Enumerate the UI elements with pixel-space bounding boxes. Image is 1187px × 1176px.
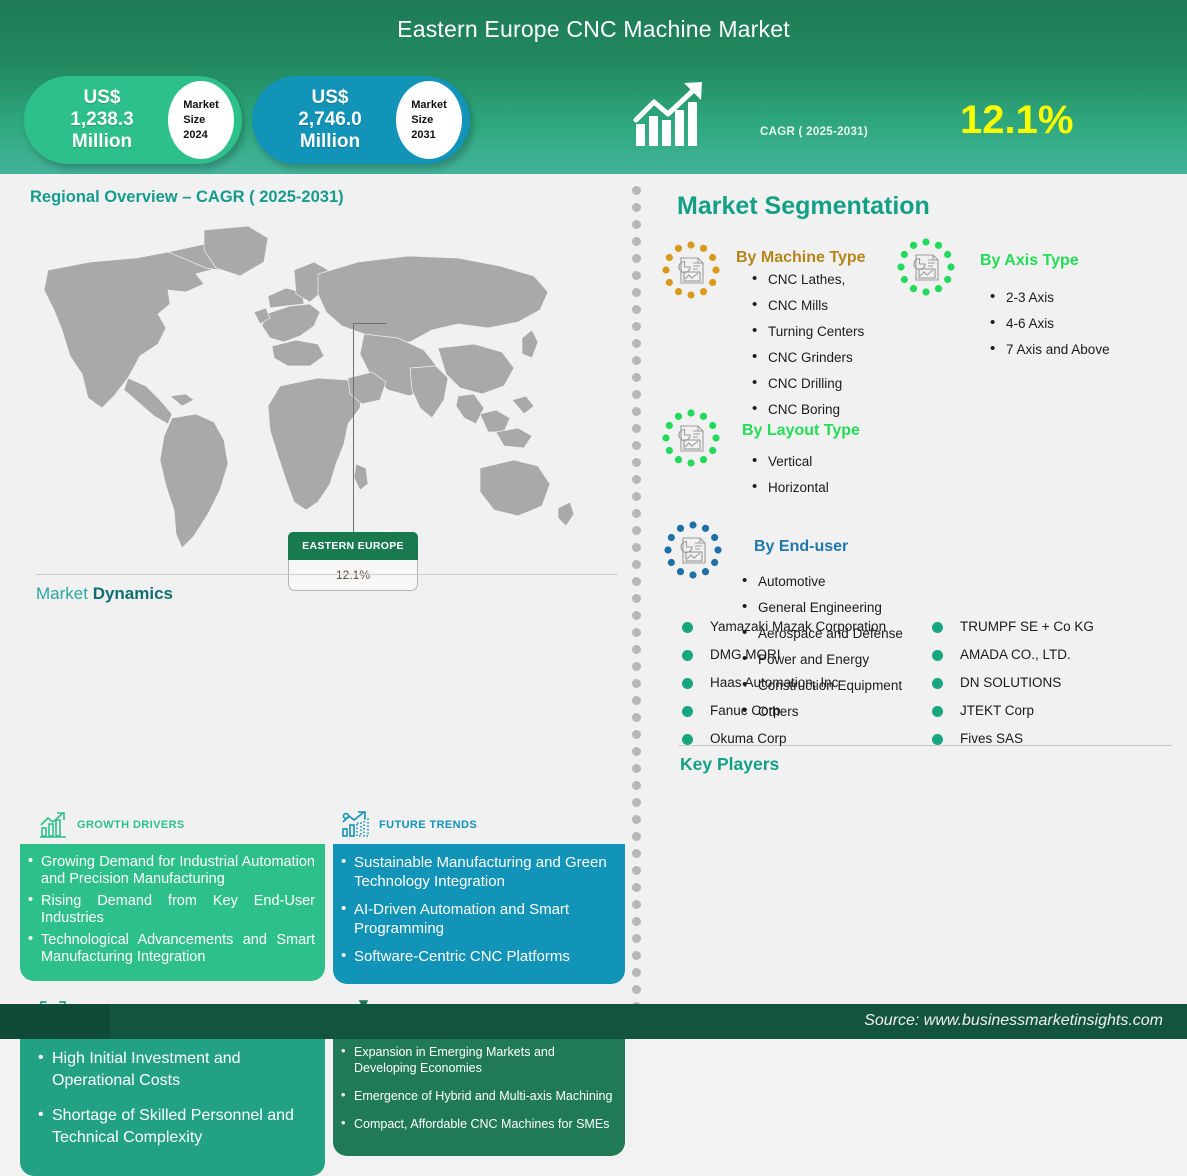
divider-dot	[632, 373, 641, 382]
market-size-2024-amount: US$ 1,238.3 Million	[24, 87, 168, 153]
document-chart-ring-icon	[660, 407, 722, 469]
list-item: Fives SAS	[928, 729, 1168, 748]
divider-dot	[632, 849, 641, 858]
divider-dot	[632, 458, 641, 467]
divider-dot	[632, 934, 641, 943]
list-item: Growing Demand for Industrial Automation…	[28, 854, 315, 888]
market-segmentation-title: Market Segmentation	[677, 192, 930, 221]
list-item: Yamazaki Mazak Corporation	[678, 617, 908, 636]
divider-dot	[632, 968, 641, 977]
future-trends-label: FUTURE TRENDS	[379, 819, 477, 831]
list-item: High Initial Investment and Operational …	[38, 1048, 313, 1092]
divider-dot	[632, 237, 641, 246]
list-item: Okuma Corp	[678, 729, 908, 748]
list-item: AI-Driven Automation and Smart Programmi…	[341, 900, 615, 938]
divider-dot	[632, 866, 641, 875]
list-item: Turning Centers	[750, 324, 950, 339]
key-players-left-column: Yamazaki Mazak CorporationDMG MORIHaas A…	[678, 617, 908, 757]
dynamics-title-light: Market	[36, 584, 93, 603]
callout-leader-horizontal	[353, 323, 386, 324]
market-size-2031-badge: Market Size 2031	[396, 81, 462, 159]
bar-chart-up-icon	[38, 810, 68, 840]
divider-dot	[632, 492, 641, 501]
document-chart-ring-icon	[660, 239, 722, 301]
source-text: Source: www.businessmarketinsights.com	[864, 1012, 1163, 1030]
divider-dot	[632, 254, 641, 263]
restraints-box: High Initial Investment and Operational …	[20, 1032, 325, 1176]
list-item: Software-Centric CNC Platforms	[341, 947, 615, 966]
divider-dot	[632, 764, 641, 773]
footer-bar: Source: www.businessmarketinsights.com	[0, 1004, 1187, 1039]
page-title: Eastern Europe CNC Machine Market	[0, 16, 1187, 43]
right-panel: Market Segmentation By Machine Type CNC …	[650, 174, 1187, 1004]
list-item: Horizontal	[750, 480, 950, 495]
growth-drivers-label: GROWTH DRIVERS	[77, 819, 185, 831]
divider-dot	[632, 339, 641, 348]
cagr-value: 12.1%	[960, 100, 1073, 140]
divider-dot	[632, 951, 641, 960]
list-item: DN SOLUTIONS	[928, 673, 1168, 692]
list-item: Expansion in Emerging Markets and Develo…	[341, 1044, 615, 1076]
section-divider	[36, 574, 618, 575]
infographic-page: Eastern Europe CNC Machine Market US$ 1,…	[0, 0, 1187, 1039]
divider-dot	[632, 662, 641, 671]
divider-dot	[632, 883, 641, 892]
list-item: CNC Grinders	[750, 350, 950, 365]
key-players-right-column: TRUMPF SE + Co KGAMADA CO., LTD.DN SOLUT…	[928, 617, 1168, 757]
restraints-list: High Initial Investment and Operational …	[38, 1048, 313, 1149]
document-chart-ring-icon	[895, 236, 957, 298]
header-banner: Eastern Europe CNC Machine Market US$ 1,…	[0, 0, 1187, 174]
world-map	[18, 218, 618, 558]
callout-leader-line	[353, 323, 354, 532]
market-size-2024-badge: Market Size 2024	[168, 81, 234, 159]
list-item: CNC Mills	[750, 298, 950, 313]
list-item: Technological Advancements and Smart Man…	[28, 932, 315, 966]
divider-dot	[632, 390, 641, 399]
regional-overview-title: Regional Overview – CAGR ( 2025-2031)	[30, 188, 344, 207]
divider-dot	[632, 305, 641, 314]
divider-dot	[632, 594, 641, 603]
growth-bar-chart-arrow-icon	[632, 80, 712, 150]
vertical-dotted-divider	[632, 186, 642, 1004]
divider-dot	[632, 526, 641, 535]
divider-dot	[632, 628, 641, 637]
growth-drivers-box: Growing Demand for Industrial Automation…	[20, 844, 325, 981]
market-dynamics-title: Market Dynamics	[36, 584, 173, 604]
divider-dot	[632, 917, 641, 926]
divider-dot	[632, 441, 641, 450]
market-size-2031-amount: US$ 2,746.0 Million	[252, 87, 396, 153]
divider-dot	[632, 203, 641, 212]
list-item: Emergence of Hybrid and Multi-axis Machi…	[341, 1088, 615, 1104]
callout-region-label: EASTERN EUROPE	[288, 532, 418, 560]
segment-list-axis-type: 2-3 Axis4-6 Axis7 Axis and Above	[988, 290, 1178, 368]
list-item: Automotive	[740, 574, 990, 589]
list-item: Shortage of Skilled Personnel and Techni…	[38, 1105, 313, 1149]
list-item: 4-6 Axis	[988, 316, 1178, 331]
segment-heading-machine-type: By Machine Type	[736, 249, 866, 267]
future-trends-list: Sustainable Manufacturing and Green Tech…	[341, 853, 615, 966]
divider-dot	[632, 798, 641, 807]
opportunity-list: Expansion in Emerging Markets and Develo…	[341, 1044, 615, 1132]
segment-heading-end-user: By End-user	[754, 538, 848, 556]
divider-dot	[632, 271, 641, 280]
list-item: TRUMPF SE + Co KG	[928, 617, 1168, 636]
list-item: DMG MORI	[678, 645, 908, 664]
list-item: CNC Drilling	[750, 376, 950, 391]
future-trends-header: FUTURE TRENDS	[340, 810, 477, 840]
divider-dot	[632, 713, 641, 722]
growth-drivers-header: GROWTH DRIVERS	[38, 810, 185, 840]
map-callout: EASTERN EUROPE 12.1%	[288, 532, 418, 590]
list-item: 2-3 Axis	[988, 290, 1178, 305]
divider-dot	[632, 186, 641, 195]
divider-dot	[632, 832, 641, 841]
segment-heading-axis-type: By Axis Type	[980, 252, 1079, 270]
segment-list-layout-type: VerticalHorizontal	[750, 454, 950, 506]
divider-dot	[632, 900, 641, 909]
divider-dot	[632, 543, 641, 552]
list-item: Compact, Affordable CNC Machines for SME…	[341, 1116, 615, 1132]
divider-dot	[632, 356, 641, 365]
trend-forecast-icon	[340, 810, 370, 840]
divider-dot	[632, 815, 641, 824]
growth-drivers-list: Growing Demand for Industrial Automation…	[28, 854, 315, 966]
divider-dot	[632, 509, 641, 518]
divider-dot	[632, 288, 641, 297]
list-item: Sustainable Manufacturing and Green Tech…	[341, 853, 615, 891]
divider-dot	[632, 322, 641, 331]
list-item: CNC Boring	[750, 402, 950, 417]
divider-dot	[632, 747, 641, 756]
footer-accent	[0, 1004, 110, 1039]
document-chart-ring-icon	[662, 519, 724, 581]
cagr-label: CAGR ( 2025-2031)	[760, 126, 868, 138]
list-item: Fanuc Corp	[678, 701, 908, 720]
divider-dot	[632, 611, 641, 620]
callout-cagr-value: 12.1%	[288, 560, 418, 591]
opportunity-box: Expansion in Emerging Markets and Develo…	[333, 1030, 625, 1156]
list-item: AMADA CO., LTD.	[928, 645, 1168, 664]
divider-dot	[632, 985, 641, 994]
divider-dot	[632, 220, 641, 229]
list-item: 7 Axis and Above	[988, 342, 1178, 357]
market-size-2031-pill: US$ 2,746.0 Million Market Size 2031	[252, 76, 470, 164]
divider-dot	[632, 560, 641, 569]
divider-dot	[632, 577, 641, 586]
list-item: Rising Demand from Key End-User Industri…	[28, 893, 315, 927]
divider-dot	[632, 679, 641, 688]
list-item: General Engineering	[740, 600, 990, 615]
key-players-title: Key Players	[680, 754, 779, 775]
segment-heading-layout-type: By Layout Type	[742, 422, 860, 440]
divider-dot	[632, 730, 641, 739]
divider-dot	[632, 407, 641, 416]
divider-dot	[632, 424, 641, 433]
left-panel: Regional Overview – CAGR ( 2025-2031)	[0, 174, 628, 1004]
list-item: Vertical	[750, 454, 950, 469]
world-map-container: EASTERN EUROPE 12.1%	[18, 218, 618, 558]
divider-dot	[632, 781, 641, 790]
future-trends-box: Sustainable Manufacturing and Green Tech…	[333, 844, 625, 984]
list-item: Haas Automation, Inc	[678, 673, 908, 692]
list-item: JTEKT Corp	[928, 701, 1168, 720]
dynamics-title-bold: Dynamics	[93, 584, 173, 603]
divider-dot	[632, 696, 641, 705]
market-size-2024-pill: US$ 1,238.3 Million Market Size 2024	[24, 76, 242, 164]
divider-dot	[632, 645, 641, 654]
divider-dot	[632, 475, 641, 484]
